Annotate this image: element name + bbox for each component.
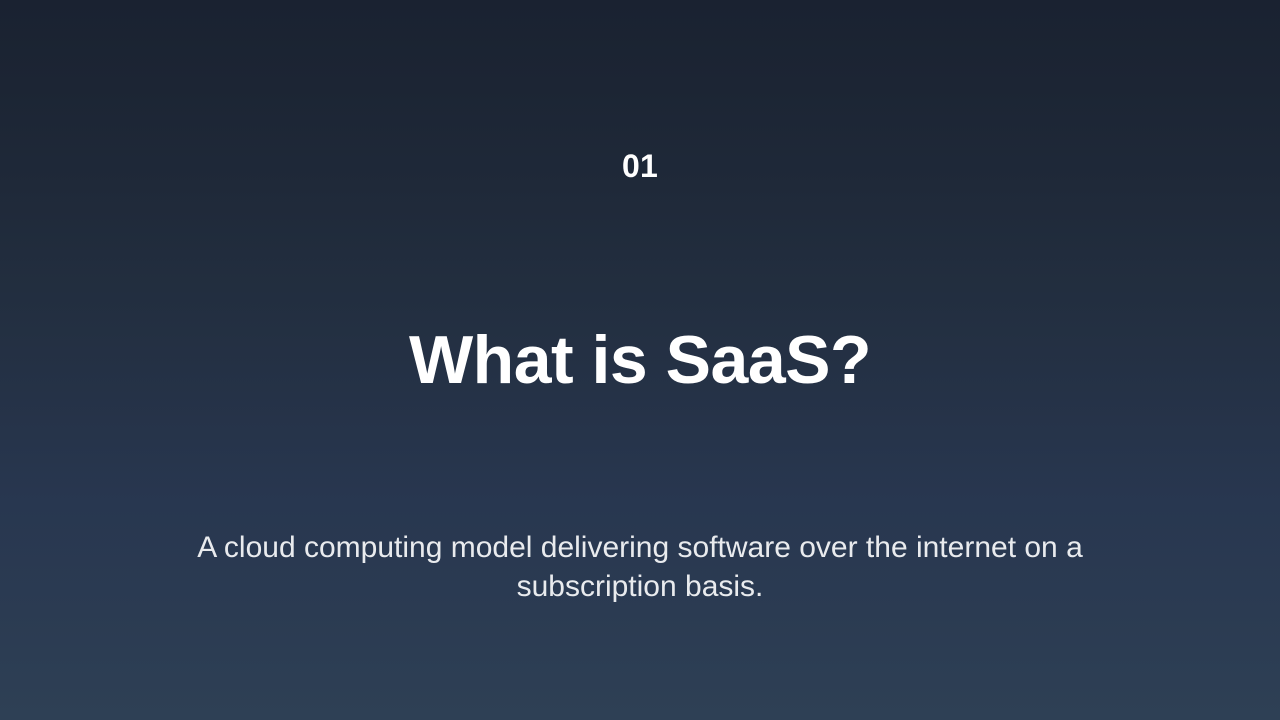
slide-title: What is SaaS? xyxy=(409,325,871,396)
slide-content: 01 What is SaaS? A cloud computing model… xyxy=(0,0,1280,637)
slide-subtitle: A cloud computing model delivering softw… xyxy=(190,528,1090,607)
section-number: 01 xyxy=(622,148,658,185)
presentation-slide: 01 What is SaaS? A cloud computing model… xyxy=(0,0,1280,720)
